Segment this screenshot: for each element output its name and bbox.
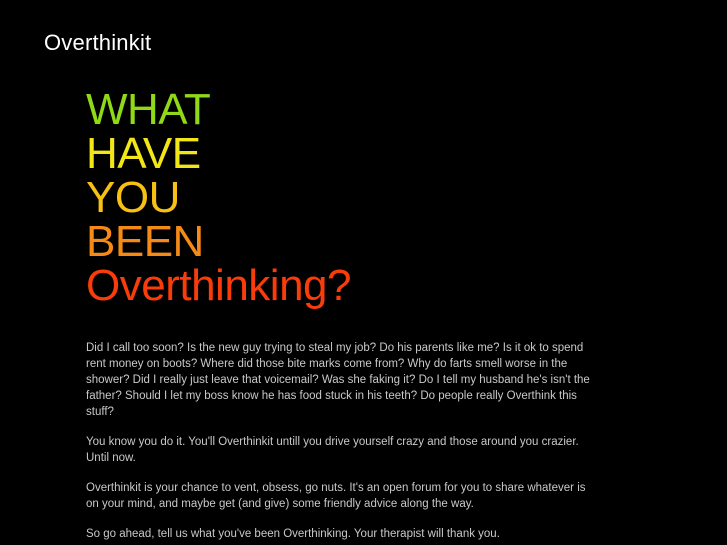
paragraph-your-chance-to-vent: Overthinkit is your chance to vent, obse… <box>86 480 598 512</box>
site-title: Overthinkit <box>44 30 151 56</box>
site-header: Overthinkit <box>44 30 151 56</box>
hero-headline: WHAT HAVE YOU BEEN Overthinking? <box>86 88 351 308</box>
page-root: Overthinkit WHAT HAVE YOU BEEN Overthink… <box>0 0 727 545</box>
hero-line-what: WHAT <box>86 88 351 132</box>
hero-line-been: BEEN <box>86 220 351 264</box>
hero-line-overthinking: Overthinking? <box>86 264 351 308</box>
paragraph-questions: Did I call too soon? Is the new guy tryi… <box>86 340 598 420</box>
hero-line-have: HAVE <box>86 132 351 176</box>
body-copy: Did I call too soon? Is the new guy tryi… <box>86 340 598 542</box>
paragraph-you-know-you-do-it: You know you do it. You'll Overthinkit u… <box>86 434 598 466</box>
hero-line-you: YOU <box>86 176 351 220</box>
paragraph-call-to-action: So go ahead, tell us what you've been Ov… <box>86 526 598 542</box>
